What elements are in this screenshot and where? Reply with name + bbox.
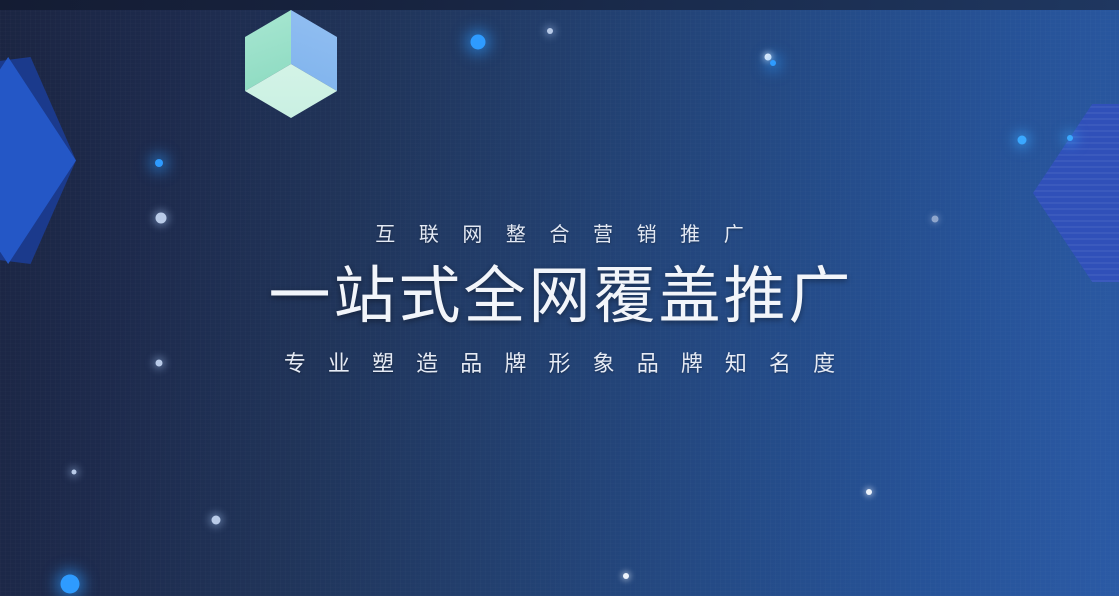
particle-dot <box>547 28 553 34</box>
hero-tagline: 专 业 塑 造 品 牌 形 象 品 牌 知 名 度 <box>0 349 1119 379</box>
particle-dot <box>61 575 80 594</box>
hero-banner: 互 联 网 整 合 营 销 推 广 一站式全网覆盖推广 专 业 塑 造 品 牌 … <box>0 0 1119 596</box>
particle-dot <box>1067 135 1073 141</box>
particle-dot <box>765 54 772 61</box>
particle-dot <box>1018 136 1027 145</box>
hero-eyebrow: 互 联 网 整 合 营 销 推 广 <box>0 222 1119 249</box>
cube-icon <box>245 10 337 118</box>
particle-dot <box>72 470 77 475</box>
hero-headline: 一站式全网覆盖推广 <box>0 262 1119 331</box>
hero-copy: 互 联 网 整 合 营 销 推 广 一站式全网覆盖推广 专 业 塑 造 品 牌 … <box>0 222 1119 379</box>
particle-dot <box>866 489 872 495</box>
top-edge-strip <box>0 0 1119 10</box>
particle-dot <box>623 573 629 579</box>
particle-dot <box>155 159 163 167</box>
particle-dot <box>770 60 776 66</box>
particle-dot <box>471 35 486 50</box>
particle-dot <box>212 516 221 525</box>
